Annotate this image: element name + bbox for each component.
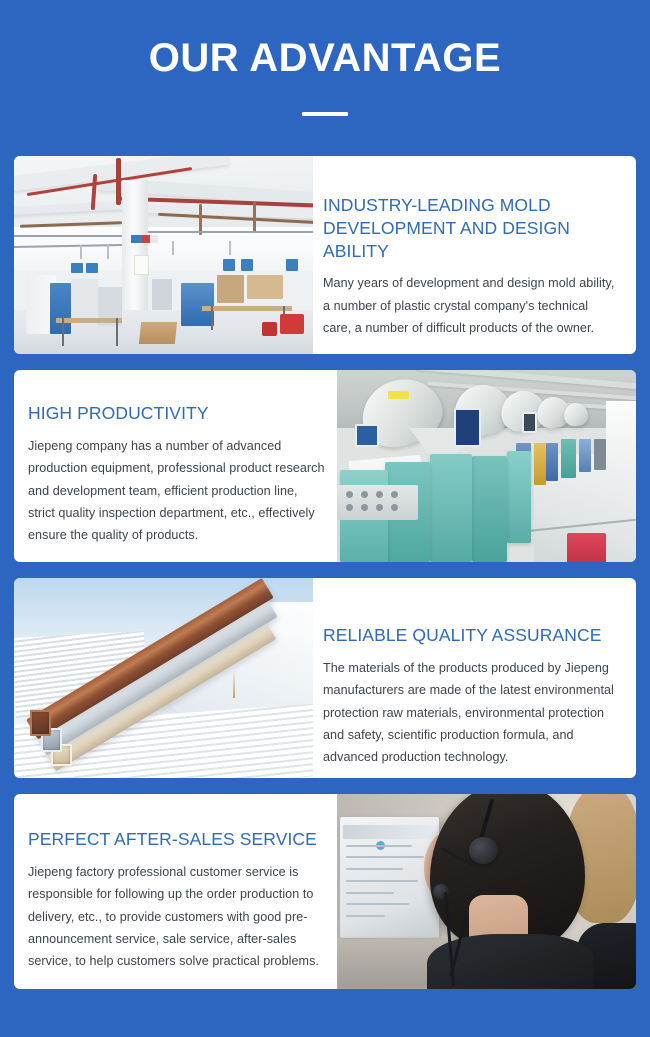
molding-machine — [472, 456, 508, 562]
structural-column — [122, 180, 148, 327]
screen-text-line — [346, 880, 418, 882]
advantage-card-text: The materials of the products produced b… — [323, 657, 618, 769]
advantage-card-title: RELIABLE QUALITY ASSURANCE — [323, 624, 618, 647]
machine-column — [594, 439, 606, 470]
overhead-pipe — [253, 202, 256, 234]
advantage-card-body: HIGH PRODUCTIVITY Jiepeng company has a … — [14, 370, 337, 562]
console-knob — [346, 491, 353, 498]
machine-column — [534, 443, 546, 485]
advantage-card-title: PERFECT AFTER-SALES SERVICE — [28, 828, 327, 851]
advantage-card[interactable]: INDUSTRY-LEADING MOLD DEVELOPMENT AND DE… — [14, 156, 636, 354]
equipment-box — [86, 263, 98, 273]
page-title: OUR ADVANTAGE — [0, 38, 650, 78]
screen-text-line — [346, 892, 394, 894]
pendant-lamp — [229, 241, 231, 255]
control-panel — [355, 424, 379, 447]
profile-bar-end-bronze — [30, 710, 51, 736]
machine-unit — [217, 275, 244, 303]
console-knob — [361, 491, 368, 498]
equipment-box — [223, 259, 235, 271]
equipment-box — [241, 259, 253, 271]
equipment-box — [71, 263, 83, 273]
red-stool — [567, 533, 606, 562]
advantage-card-text: Many years of development and design mol… — [323, 272, 618, 339]
molding-machines-image — [337, 370, 636, 562]
profile-bars-image — [14, 578, 313, 778]
control-panel — [522, 412, 537, 433]
window-band — [14, 227, 313, 271]
machine-unit — [181, 283, 214, 327]
work-table — [56, 318, 122, 323]
console-knob — [376, 491, 383, 498]
advantage-card-title: HIGH PRODUCTIVITY — [28, 402, 327, 425]
machine-unit — [50, 283, 71, 334]
advantage-card-body: INDUSTRY-LEADING MOLD DEVELOPMENT AND DE… — [313, 156, 636, 354]
title-underline-rule — [302, 112, 348, 116]
screen-header-bar — [343, 825, 433, 839]
molding-machine — [430, 454, 472, 562]
control-panel — [454, 408, 481, 446]
machine-column — [561, 439, 576, 477]
screen-text-line — [346, 915, 385, 917]
pendant-lamp — [107, 245, 109, 259]
work-table — [202, 306, 292, 311]
warning-label — [388, 391, 409, 399]
red-stool — [262, 322, 277, 336]
advantage-card-title: INDUSTRY-LEADING MOLD DEVELOPMENT AND DE… — [323, 194, 618, 262]
machine-unit — [152, 279, 173, 311]
screen-text-line — [346, 868, 403, 870]
advantage-card[interactable]: RELIABLE QUALITY ASSURANCE The materials… — [14, 578, 636, 778]
cardboard-box — [138, 322, 176, 344]
pendant-lamp — [80, 245, 82, 259]
customer-service-image — [337, 794, 636, 989]
table-leg — [211, 306, 213, 330]
wall-notice — [134, 255, 149, 275]
factory-interior-image — [14, 156, 313, 354]
advantage-card[interactable]: PERFECT AFTER-SALES SERVICE Jiepeng fact… — [14, 794, 636, 989]
screen-text-line — [346, 903, 409, 905]
advantage-card-body: RELIABLE QUALITY ASSURANCE The materials… — [313, 578, 636, 778]
machine-unit — [247, 275, 283, 299]
page-header: OUR ADVANTAGE — [0, 0, 650, 116]
machine-column — [546, 443, 558, 481]
advantage-card-text: Jiepeng company has a number of advanced… — [28, 435, 327, 547]
console-knob — [391, 491, 398, 498]
advantage-card-text: Jiepeng factory professional customer se… — [28, 861, 327, 973]
advantage-card[interactable]: HIGH PRODUCTIVITY Jiepeng company has a … — [14, 370, 636, 562]
table-leg — [62, 318, 64, 346]
hanging-sign — [131, 235, 158, 243]
equipment-box — [286, 259, 298, 271]
pendant-lamp — [172, 241, 174, 255]
table-leg — [116, 318, 118, 346]
ceiling-rail — [146, 231, 313, 233]
machine-column — [579, 439, 591, 472]
screen-text-line — [346, 845, 412, 847]
red-stool — [280, 314, 304, 334]
molding-machine — [507, 451, 531, 543]
advantage-card-body: PERFECT AFTER-SALES SERVICE Jiepeng fact… — [14, 794, 337, 989]
highlight-glint — [233, 670, 235, 698]
advantage-card-list: INDUSTRY-LEADING MOLD DEVELOPMENT AND DE… — [14, 156, 636, 1005]
